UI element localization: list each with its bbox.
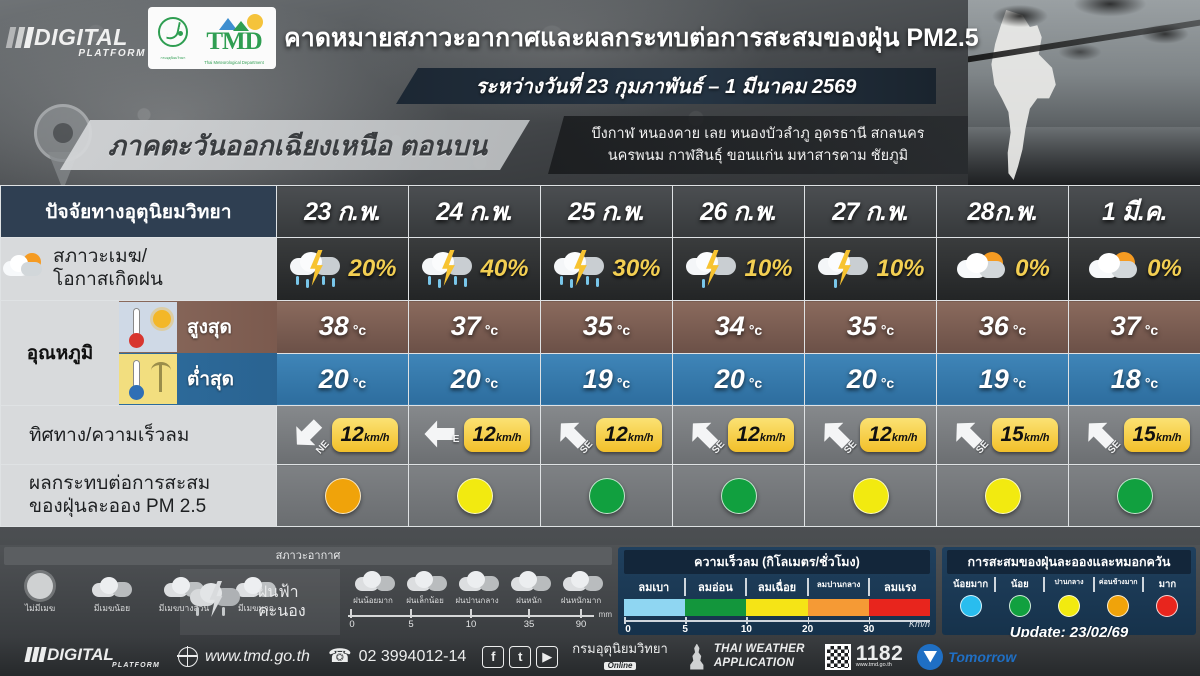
tmin-value-2: 19 — [583, 364, 613, 394]
rain-level-2: ฝนปานกลาง — [452, 565, 502, 607]
wind-cat-3: ลมปานกลาง — [807, 578, 869, 596]
tmax-value-0: 38 — [319, 311, 349, 341]
rain-pct-4: 10% — [876, 255, 924, 283]
region-name: ภาคตะวันออกเฉียงเหนือ ตอนบน — [108, 124, 487, 167]
rain-unit-label: mm — [599, 610, 612, 619]
wind-speed-2: 12 — [604, 423, 627, 446]
wind-unit: km/h — [1024, 432, 1050, 444]
temp-min-label-row: ต่ำสุด — [119, 353, 277, 405]
hotline-number: 1182 — [856, 642, 904, 665]
wind-cell-6: SE 15km/h — [1069, 406, 1200, 465]
sky-cell-5: 0% — [937, 238, 1069, 301]
wind-speed-4: 12 — [868, 423, 891, 446]
pine-branch-icon — [968, 0, 1200, 114]
wind-cell-3: SE 12km/h — [673, 406, 805, 465]
day-header-2: 25 ก.พ. — [541, 186, 673, 238]
legend-clear-sky: ไม่มีเมฆ — [4, 571, 76, 615]
tmax-cell-0: 38°c — [277, 301, 409, 354]
sky-row-label: สภาวะเมฆ/ โอกาสเกิดฝน — [1, 238, 277, 301]
phone-icon: ☎ — [328, 645, 352, 668]
map-sea-backdrop — [968, 127, 1200, 185]
wind-speed-6: 15 — [1132, 423, 1155, 446]
website-link[interactable]: www.tmd.go.th — [178, 647, 310, 667]
thai-weather-app: THAI WEATHER APPLICATION — [686, 643, 805, 669]
province-line-2: นครพนม กาฬสินธุ์ ขอนแก่น มหาสารคาม ชัยภู… — [608, 145, 908, 167]
wind-swatch-3 — [808, 599, 869, 616]
tmin-cell-4: 20°c — [805, 353, 937, 406]
wind-axis: 0 5 10 20 30 Km/h — [624, 617, 930, 637]
pm25-legend: การสะสมของฝุ่นละอองและหมอกควัน น้อยมาก น… — [942, 547, 1196, 635]
pm-cell-5 — [937, 465, 1069, 527]
brand-name: DIGITAL — [34, 24, 128, 51]
tmax-cell-6: 37°c — [1069, 301, 1200, 354]
wind-arrow-icon: E — [419, 413, 461, 457]
wind-cell-1: E 12km/h — [409, 406, 541, 465]
wind-speed-badge-6: 15km/h — [1124, 418, 1189, 452]
wind-label-text: ทิศทาง/ความเร็วลม — [29, 425, 189, 446]
temp-max-row: อุณหภูมิ สูงสุด ต่ำสุด — [1, 301, 1200, 354]
page-title: คาดหมายสภาวะอากาศและผลกระทบต่อการสะสมของ… — [284, 18, 974, 58]
date-range-banner: ระหว่างวันที่ 23 กุมภาพันธ์ – 1 มีนาคม 2… — [396, 68, 936, 104]
phone-number: 02 3994012-14 — [359, 648, 467, 666]
temperature-label: อุณหภูมิ — [1, 301, 119, 405]
wind-speed-0: 12 — [340, 423, 363, 446]
tmax-cell-3: 34°c — [673, 301, 805, 354]
tmin-cell-5: 19°c — [937, 353, 1069, 406]
wind-swatch-4 — [869, 599, 930, 616]
legend-few-clouds: มีเมฆน้อย — [76, 571, 148, 615]
tmin-value-0: 20 — [319, 364, 349, 394]
pm-cell-0 — [277, 465, 409, 527]
rain-level-1: ฝนเล็กน้อย — [400, 565, 450, 607]
rain-level-label-4: ฝนหนักมาก — [556, 594, 606, 607]
pm-cat-1: น้อย — [994, 577, 1043, 592]
wind-cat-0: ลมเบา — [624, 578, 684, 596]
tmin-value-3: 20 — [715, 364, 745, 394]
wind-cell-2: SE 12km/h — [541, 406, 673, 465]
thermometer-cold-icon — [119, 354, 177, 404]
qr-code-icon — [825, 644, 851, 670]
tmin-cell-2: 19°c — [541, 353, 673, 406]
partly-cloudy-icon — [1, 250, 45, 288]
phone-contact[interactable]: ☎ 02 3994012-14 — [328, 645, 466, 668]
tmin-value-4: 20 — [847, 364, 877, 394]
tmax-value-2: 35 — [583, 311, 613, 341]
pm-cat-3: ค่อนข้างมาก — [1093, 577, 1142, 592]
sky-cell-3: 10% — [673, 238, 805, 301]
tmax-value-3: 34 — [715, 311, 745, 341]
wind-dir-1: E — [453, 434, 460, 445]
digital-platform-logo: DIGITAL PLATFORM — [8, 24, 148, 68]
province-list: บึงกาฬ หนองคาย เลย หนองบัวลำภู อุดรธานี … — [548, 116, 968, 174]
tmax-cell-4: 35°c — [805, 301, 937, 354]
sky-cell-4: 10% — [805, 238, 937, 301]
wind-unit-label: Km/h — [909, 619, 930, 629]
rain-level-label-3: ฝนหนัก — [504, 594, 554, 607]
tmax-value-4: 35 — [847, 311, 877, 341]
pm25-row-label: ผลกระทบต่อการสะสม ของฝุ่นละออง PM 2.5 — [1, 465, 277, 527]
pm-status-dot-0 — [325, 478, 361, 514]
rainfall-axis: 0 5 10 35 90 mm — [348, 609, 610, 631]
footer-brand-name: DIGITAL — [47, 645, 114, 664]
temp-max-label: สูงสุด — [187, 312, 232, 342]
partly-cloudy-icon — [955, 248, 1011, 290]
sky-cell-2: 30% — [541, 238, 673, 301]
wind-tick-0: 0 — [625, 624, 631, 635]
rain-tick-3: 35 — [524, 619, 535, 630]
rain-level-0: ฝนน้อยมาก — [348, 565, 398, 607]
tmin-value-5: 19 — [979, 364, 1009, 394]
hotline-block: 1182 www.tmd.go.th — [856, 645, 904, 669]
rain-pct-5: 0% — [1015, 255, 1050, 283]
rain-level-4: ฝนหนักมาก — [556, 565, 606, 607]
wind-arrow-icon: SE — [1079, 413, 1121, 457]
rain-tick-0: 0 — [349, 619, 354, 630]
logo-bars-icon — [26, 647, 45, 662]
pm-cell-3 — [673, 465, 805, 527]
pm-cell-4 — [805, 465, 937, 527]
sky-cell-1: 40% — [409, 238, 541, 301]
rain-pct-0: 20% — [348, 255, 396, 283]
tmin-value-1: 20 — [451, 364, 481, 394]
rain-pct-1: 40% — [480, 255, 528, 283]
wind-cat-2: ลมเฉื่อย — [745, 578, 807, 596]
wind-speed-badge-1: 12km/h — [464, 418, 529, 452]
rain-pct-3: 10% — [744, 255, 792, 283]
weather-legend: สภาวะอากาศ ไม่มีเมฆ มีเมฆน้อย มีเมฆบางส่… — [4, 547, 612, 635]
pm-label-line1: ผลกระทบต่อการสะสม — [29, 473, 276, 496]
rain-tick-4: 90 — [576, 619, 587, 630]
legend-area: สภาวะอากาศ ไม่มีเมฆ มีเมฆน้อย มีเมฆบางส่… — [0, 545, 1200, 637]
rain-pct-2: 30% — [612, 255, 660, 283]
storm-label-line2: คะนอง — [258, 602, 306, 621]
wind-legend: ความเร็วลม (กิโลเมตร/ชั่วโมง) ลมเบา ลมอ่… — [618, 547, 936, 635]
province-line-1: บึงกาฬ หนองคาย เลย หนองบัวลำภู อุดรธานี … — [591, 123, 924, 145]
few-clouds-icon — [90, 575, 134, 599]
table-header-row: ปัจจัยทางอุตุนิยมวิทยา 23 ก.พ. 24 ก.พ. 2… — [1, 186, 1200, 238]
pm-swatch-0 — [947, 595, 996, 622]
few-clouds-label: มีเมฆน้อย — [76, 601, 148, 615]
wind-tick-3: 20 — [802, 624, 813, 635]
pm-cell-1 — [409, 465, 541, 527]
tmd-mark-icon: TMD Thai Meteorological Department — [197, 12, 271, 64]
pm-swatch-3 — [1093, 595, 1142, 622]
department-credit: กรมอุตุนิยมวิทยา Online — [572, 642, 668, 671]
wind-speed-badge-3: 12km/h — [728, 418, 793, 452]
tmin-cell-0: 20°c — [277, 353, 409, 406]
thunderstorm-icon — [552, 248, 608, 290]
pm25-row: ผลกระทบต่อการสะสม ของฝุ่นละออง PM 2.5 — [1, 465, 1200, 527]
wind-arrow-icon: SE — [683, 413, 725, 457]
wind-arrow-icon: SE — [551, 413, 593, 457]
day-header-0: 23 ก.พ. — [277, 186, 409, 238]
tmd-abbr: TMD — [197, 28, 271, 56]
pm-cat-2: ปานกลาง — [1043, 577, 1092, 592]
wind-swatch-2 — [746, 599, 807, 616]
wind-unit: km/h — [628, 432, 654, 444]
pm-status-dot-4 — [853, 478, 889, 514]
wind-arrow-icon: NE — [287, 413, 329, 457]
wind-unit: km/h — [364, 432, 390, 444]
social-links[interactable]: f t ▶ — [482, 646, 558, 668]
pm-cat-0: น้อยมาก — [947, 577, 994, 592]
forecast-table: ปัจจัยทางอุตุนิยมวิทยา 23 ก.พ. 24 ก.พ. 2… — [0, 185, 1200, 527]
tmd-seal-caption: กรมอุตุนิยมวิทยา — [153, 56, 193, 60]
wind-cell-4: SE 12km/h — [805, 406, 937, 465]
wind-swatch-1 — [685, 599, 746, 616]
wind-cell-5: SE 15km/h — [937, 406, 1069, 465]
tmd-seal-icon: กรมอุตุนิยมวิทยา — [153, 15, 193, 61]
partner-name: Tomorrow — [948, 649, 1016, 665]
department-name: กรมอุตุนิยมวิทยา — [572, 642, 668, 656]
sky-label-line2: โอกาสเกิดฝน — [53, 269, 163, 292]
tmax-cell-5: 36°c — [937, 301, 1069, 354]
footer-digital-platform-logo: DIGITAL PLATFORM — [0, 645, 160, 669]
table-header-label: ปัจจัยทางอุตุนิยมวิทยา — [1, 186, 277, 238]
thunderstorm-icon — [684, 248, 740, 290]
unit-c: °c — [1145, 322, 1158, 338]
sky-label-line1: สภาวะเมฆ/ — [53, 246, 163, 269]
wind-tick-4: 30 — [863, 624, 874, 635]
youtube-icon[interactable]: ▶ — [536, 646, 558, 668]
weather-forecast-infographic: DIGITAL PLATFORM กรมอุตุนิยมวิทยา TMD Th… — [0, 0, 1200, 676]
partner-mark-icon — [917, 644, 943, 670]
pm-swatch-1 — [996, 595, 1045, 622]
unit-c: °c — [353, 322, 366, 338]
pm-swatch-4 — [1142, 595, 1191, 622]
wind-row-label: ทิศทาง/ความเร็วลม — [1, 406, 277, 465]
header-banner: DIGITAL PLATFORM กรมอุตุนิยมวิทยา TMD Th… — [0, 0, 1200, 185]
legend-thunderstorm: ฝนฟ้า คะนอง — [180, 569, 340, 635]
tmax-cell-2: 35°c — [541, 301, 673, 354]
wind-arrow-icon: SE — [815, 413, 857, 457]
rain-tick-1: 5 — [408, 619, 413, 630]
wind-speed-badge-0: 12km/h — [332, 418, 397, 452]
tmax-value-1: 37 — [451, 311, 481, 341]
temperature-label-cell: อุณหภูมิ สูงสุด ต่ำสุด — [1, 301, 277, 406]
tmax-cell-1: 37°c — [409, 301, 541, 354]
wind-swatch-0 — [624, 599, 685, 616]
unit-c: °c — [1013, 322, 1026, 338]
day-header-6: 1 มี.ค. — [1069, 186, 1200, 238]
department-online-tag: Online — [604, 662, 637, 671]
rain-pct-6: 0% — [1147, 255, 1182, 283]
wind-unit: km/h — [760, 432, 786, 444]
facebook-icon[interactable]: f — [482, 646, 504, 668]
tmax-value-5: 36 — [979, 311, 1009, 341]
pm-legend-title: การสะสมของฝุ่นละอองและหมอกควัน — [947, 550, 1191, 574]
unit-c: °c — [617, 322, 630, 338]
pm-cell-2 — [541, 465, 673, 527]
weather-legend-title: สภาวะอากาศ — [4, 547, 612, 565]
rain-level-label-0: ฝนน้อยมาก — [348, 594, 398, 607]
wind-speed-badge-4: 12km/h — [860, 418, 925, 452]
wind-speed-badge-5: 15km/h — [992, 418, 1057, 452]
storm-label-line1: ฝนฟ้า — [258, 583, 306, 602]
wind-speed-3: 12 — [736, 423, 759, 446]
wind-unit: km/h — [892, 432, 918, 444]
sky-row: สภาวะเมฆ/ โอกาสเกิดฝน 20% 40% 30% — [1, 238, 1200, 301]
date-range-text: ระหว่างวันที่ 23 กุมภาพันธ์ – 1 มีนาคม 2… — [476, 70, 857, 102]
tmin-cell-1: 20°c — [409, 353, 541, 406]
day-header-1: 24 ก.พ. — [409, 186, 541, 238]
region-banner: ภาคตะวันออกเฉียงเหนือ ตอนบน — [60, 120, 530, 170]
rain-tick-2: 10 — [466, 619, 477, 630]
wind-speed-5: 15 — [1000, 423, 1023, 446]
thunderstorm-icon — [188, 579, 250, 625]
tmd-fullname: Thai Meteorological Department — [197, 60, 271, 65]
day-header-5: 28ก.พ. — [937, 186, 1069, 238]
thermometer-hot-icon — [119, 302, 177, 352]
rainfall-scale: ฝนน้อยมาก ฝนเล็กน้อย ฝนปานกลาง ฝนหนัก ฝน… — [348, 565, 610, 631]
temp-min-label: ต่ำสุด — [187, 364, 234, 394]
rain-level-label-1: ฝนเล็กน้อย — [400, 594, 450, 607]
unit-c: °c — [485, 322, 498, 338]
wind-tick-2: 10 — [741, 624, 752, 635]
wind-legend-title: ความเร็วลม (กิโลเมตร/ชั่วโมง) — [624, 550, 930, 574]
temple-icon — [686, 644, 708, 670]
thunderstorm-icon — [288, 248, 344, 290]
rain-level-3: ฝนหนัก — [504, 565, 554, 607]
wind-color-bar — [624, 599, 930, 616]
wind-cell-0: NE 12km/h — [277, 406, 409, 465]
sky-cell-0: 20% — [277, 238, 409, 301]
logo-bars-icon — [8, 27, 32, 48]
pm-label-line2: ของฝุ่นละออง PM 2.5 — [29, 496, 276, 519]
unit-c: °c — [881, 375, 894, 391]
pm-status-dot-5 — [985, 478, 1021, 514]
twitter-icon[interactable]: t — [509, 646, 531, 668]
wind-unit: km/h — [496, 432, 522, 444]
wind-tick-1: 5 — [682, 624, 688, 635]
wind-unit: km/h — [1156, 432, 1182, 444]
sky-cell-6: 0% — [1069, 238, 1200, 301]
globe-icon — [178, 647, 198, 667]
wind-cat-1: ลมอ่อน — [684, 578, 746, 596]
pm-status-dot-3 — [721, 478, 757, 514]
pm-status-dot-2 — [589, 478, 625, 514]
wind-row: ทิศทาง/ความเร็วลม NE 12km/h E 12km/h SE … — [1, 406, 1200, 465]
unit-c: °c — [1145, 375, 1158, 391]
tmax-value-6: 37 — [1111, 311, 1141, 341]
wind-speed-badge-2: 12km/h — [596, 418, 661, 452]
wind-arrow-icon: SE — [947, 413, 989, 457]
footer-bar: DIGITAL PLATFORM www.tmd.go.th ☎ 02 3994… — [0, 637, 1200, 676]
pm-cat-4: มาก — [1142, 577, 1191, 592]
pm-status-dot-1 — [457, 478, 493, 514]
clear-sky-label: ไม่มีเมฆ — [4, 601, 76, 615]
unit-c: °c — [749, 322, 762, 338]
app-line1: THAI WEATHER — [714, 643, 805, 656]
unit-c: °c — [353, 375, 366, 391]
wind-cat-4: ลมแรง — [868, 578, 930, 596]
day-header-4: 27 ก.พ. — [805, 186, 937, 238]
pm-cell-6 — [1069, 465, 1200, 527]
tmd-logo: กรมอุตุนิยมวิทยา TMD Thai Meteorological… — [148, 7, 276, 69]
unit-c: °c — [617, 375, 630, 391]
tmin-cell-6: 18°c — [1069, 353, 1200, 406]
thunderstorm-icon — [816, 248, 872, 290]
temp-max-label-row: สูงสุด — [119, 301, 277, 353]
unit-c: °c — [749, 375, 762, 391]
partly-cloudy-icon — [1087, 248, 1143, 290]
tmin-value-6: 18 — [1111, 364, 1141, 394]
thunderstorm-icon — [420, 248, 476, 290]
website-text: www.tmd.go.th — [205, 648, 310, 666]
rain-level-label-2: ฝนปานกลาง — [452, 594, 502, 607]
app-line2: APPLICATION — [714, 657, 805, 670]
wind-dir-0: NE — [314, 439, 331, 457]
clear-sky-icon — [27, 573, 53, 599]
tmin-cell-3: 20°c — [673, 353, 805, 406]
pm-status-dot-6 — [1117, 478, 1153, 514]
thailand-map-panel — [968, 0, 1200, 185]
unit-c: °c — [881, 322, 894, 338]
unit-c: °c — [485, 375, 498, 391]
unit-c: °c — [1013, 375, 1026, 391]
day-header-3: 26 ก.พ. — [673, 186, 805, 238]
pm-swatch-2 — [1045, 595, 1094, 622]
wind-speed-1: 12 — [472, 423, 495, 446]
partner-logo: Tomorrow — [917, 644, 1016, 670]
forecast-table-wrapper: ปัจจัยทางอุตุนิยมวิทยา 23 ก.พ. 24 ก.พ. 2… — [0, 185, 1200, 545]
